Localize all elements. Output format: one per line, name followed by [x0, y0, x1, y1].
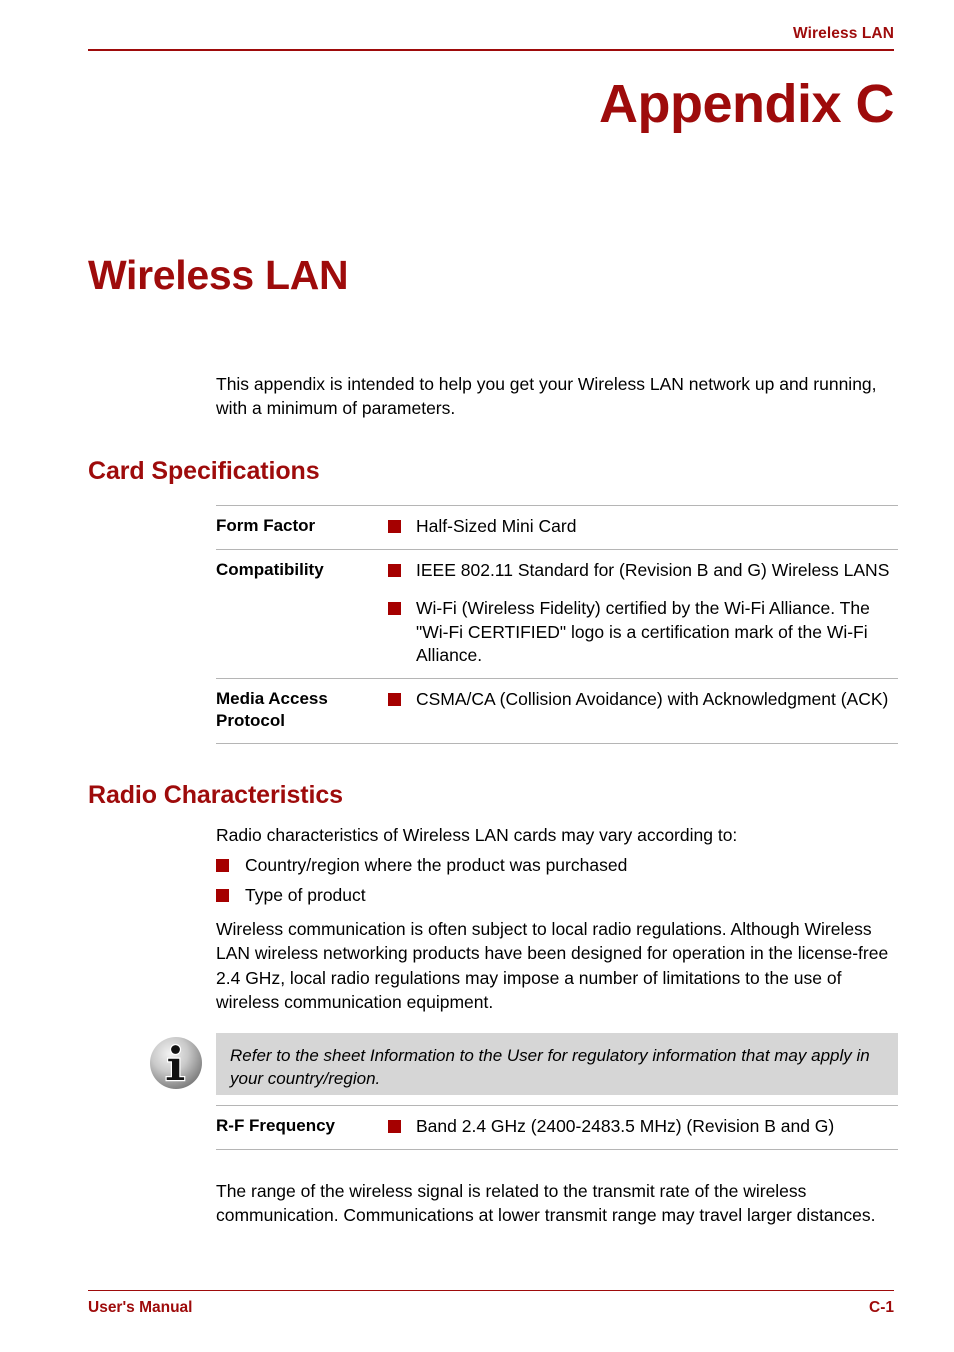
document-page: Wireless LAN Appendix C Wireless LAN Thi… [0, 0, 954, 1352]
rf-frequency-table: R-F Frequency Band 2.4 GHz (2400-2483.5 … [216, 1105, 898, 1150]
closing-paragraph-block: The range of the wireless signal is rela… [216, 1179, 898, 1227]
note-box: Refer to the sheet Information to the Us… [216, 1033, 898, 1095]
table-row: R-F Frequency Band 2.4 GHz (2400-2483.5 … [216, 1105, 898, 1150]
bullet-square-icon [388, 564, 401, 577]
footer-row: User's Manual C-1 [88, 1298, 894, 1318]
info-icon [148, 1035, 204, 1091]
radio-characteristics-intro: Radio characteristics of Wireless LAN ca… [216, 823, 898, 847]
page-title: Wireless LAN [88, 251, 348, 299]
radio-characteristics-block: Radio characteristics of Wireless LAN ca… [216, 823, 898, 1014]
spec-item-text: CSMA/CA (Collision Avoidance) with Ackno… [416, 688, 888, 712]
spec-item: Band 2.4 GHz (2400-2483.5 MHz) (Revision… [388, 1115, 898, 1139]
note-text: Refer to the sheet Information to the Us… [230, 1044, 884, 1090]
intro-paragraph: This appendix is intended to help you ge… [216, 372, 898, 420]
spec-item: IEEE 802.11 Standard for (Revision B and… [388, 559, 898, 583]
spec-item: CSMA/CA (Collision Avoidance) with Ackno… [388, 688, 898, 712]
table-row: Media Access Protocol CSMA/CA (Collision… [216, 678, 898, 744]
table-row: Form Factor Half-Sized Mini Card [216, 505, 898, 549]
spec-values: IEEE 802.11 Standard for (Revision B and… [388, 559, 898, 668]
list-item: Country/region where the product was pur… [216, 853, 898, 877]
spec-item: Wi-Fi (Wireless Fidelity) certified by t… [388, 597, 898, 668]
radio-characteristics-paragraph: Wireless communication is often subject … [216, 917, 898, 1014]
list-item: Type of product [216, 883, 898, 907]
section-heading-radio-characteristics: Radio Characteristics [88, 780, 343, 810]
header-divider [88, 49, 894, 51]
bullet-square-icon [388, 693, 401, 706]
bullet-square-icon [216, 859, 229, 872]
card-specifications-table: Form Factor Half-Sized Mini Card Compati… [216, 505, 898, 744]
table-row: Compatibility IEEE 802.11 Standard for (… [216, 549, 898, 678]
spec-label: R-F Frequency [216, 1115, 388, 1139]
section-heading-card-specifications: Card Specifications [88, 456, 320, 486]
spec-item-text: Half-Sized Mini Card [416, 515, 576, 539]
footer-page-number: C-1 [869, 1298, 894, 1318]
list-item-label: Type of product [245, 883, 366, 907]
spec-label: Form Factor [216, 515, 388, 539]
spec-item-text: Band 2.4 GHz (2400-2483.5 MHz) (Revision… [416, 1115, 834, 1139]
spec-label: Compatibility [216, 559, 388, 668]
page-footer: User's Manual C-1 [88, 1290, 894, 1318]
spec-values: Half-Sized Mini Card [388, 515, 898, 539]
note-callout: Refer to the sheet Information to the Us… [148, 1033, 898, 1095]
page-header: Wireless LAN [88, 24, 894, 51]
running-header-title: Wireless LAN [88, 24, 894, 44]
bullet-square-icon [216, 889, 229, 902]
radio-characteristics-bullet-list: Country/region where the product was pur… [216, 853, 898, 907]
appendix-label: Appendix C [599, 74, 894, 134]
spec-item: Half-Sized Mini Card [388, 515, 898, 539]
spec-values: CSMA/CA (Collision Avoidance) with Ackno… [388, 688, 898, 733]
spec-item-text: Wi-Fi (Wireless Fidelity) certified by t… [416, 597, 898, 668]
spec-label: Media Access Protocol [216, 688, 388, 733]
bullet-square-icon [388, 602, 401, 615]
list-item-label: Country/region where the product was pur… [245, 853, 627, 877]
bullet-square-icon [388, 1120, 401, 1133]
footer-left-label: User's Manual [88, 1298, 192, 1318]
intro-paragraph-block: This appendix is intended to help you ge… [216, 372, 898, 420]
bullet-square-icon [388, 520, 401, 533]
spec-values: Band 2.4 GHz (2400-2483.5 MHz) (Revision… [388, 1115, 898, 1139]
footer-divider [88, 1290, 894, 1291]
closing-paragraph: The range of the wireless signal is rela… [216, 1179, 898, 1227]
spec-item-text: IEEE 802.11 Standard for (Revision B and… [416, 559, 889, 583]
